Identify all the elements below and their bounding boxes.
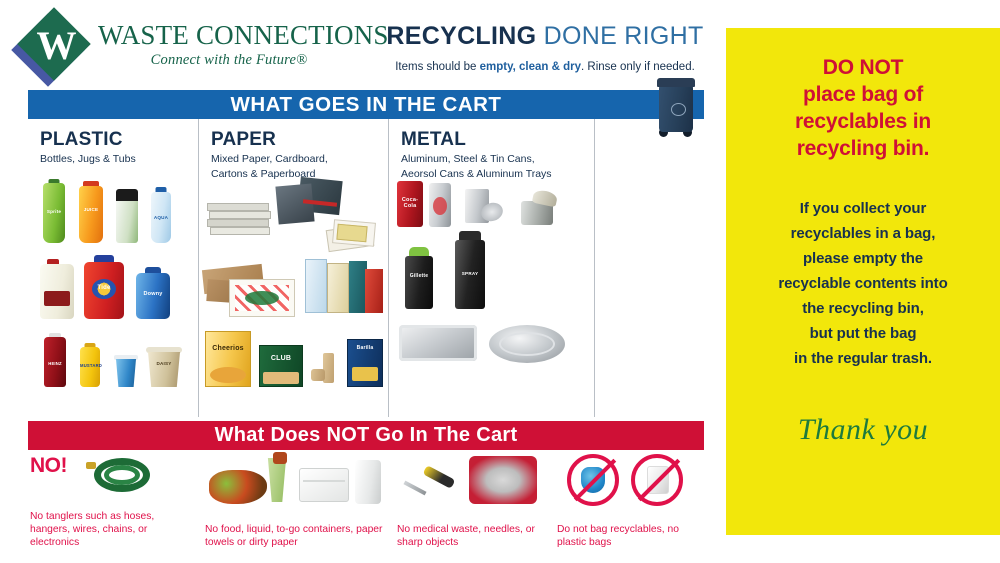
column-metal-items: Coca-Cola: [389, 175, 594, 413]
recycling-cart-icon: [655, 78, 697, 140]
item-cheerios-cereal-box: Cheerios: [205, 331, 251, 387]
column-paper-title: PAPER: [211, 129, 388, 151]
item-aluminum-foil-tray: [399, 325, 477, 365]
column-plastic-title: PLASTIC: [40, 129, 198, 151]
item-club-cracker-box: CLUB: [259, 345, 303, 387]
rejected-materials-row: NO! No tanglers such as hoses, hangers, …: [28, 452, 704, 557]
no-plastic-bag-icon: [631, 454, 683, 506]
item-green-soda-bottle: Sprite: [42, 179, 66, 243]
biohazard-bag-needles-icon: [469, 456, 537, 504]
item-aerosol-spray-can: SPRAY: [455, 231, 485, 309]
item-coca-cola-can: Coca-Cola: [397, 181, 423, 227]
column-paper-subtitle-line1: Mixed Paper, Cardboard,: [211, 153, 388, 166]
item-water-bottle: AQUA: [150, 187, 172, 243]
no-bag-icons: [555, 452, 704, 510]
item-mail-envelopes: [327, 219, 381, 251]
medical-waste-art: [395, 452, 555, 510]
item-milk-jug: [40, 259, 74, 319]
food-scraps-icon: [209, 470, 267, 504]
do-not-bag-notice-panel: DO NOT place bag of recyclables in recyc…: [726, 28, 1000, 535]
notice-body-line-3: please empty the: [740, 246, 986, 271]
item-shaving-gel-can: Gillette: [405, 247, 433, 309]
item-round-foil-pan: [489, 325, 565, 365]
recycling-flyer-page: W WASTE CONNECTIONS Connect with the Fut…: [0, 0, 1000, 563]
item-magazines: [277, 179, 341, 223]
subline-emphasis: empty, clean & dry: [480, 61, 581, 73]
waste-connections-diamond-icon: W: [18, 10, 92, 82]
item-aluminum-can: [429, 183, 451, 227]
item-newspaper-stack: [207, 203, 271, 235]
column-plastic: PLASTIC Bottles, Jugs & Tubs Sprite JUIC…: [28, 119, 198, 417]
paper-towel-roll-icon: [355, 460, 381, 504]
column-metal-subtitle-line1: Aluminum, Steel & Tin Cans,: [401, 153, 594, 166]
drink-cup-icon: [265, 458, 289, 502]
styrofoam-container-icon: [299, 468, 349, 502]
accepted-materials-table: PLASTIC Bottles, Jugs & Tubs Sprite JUIC…: [28, 119, 704, 417]
item-sour-cream-tub: DAISY: [146, 347, 182, 387]
not-item-food-containers: No food, liquid, to-go containers, paper…: [203, 452, 395, 557]
brand-tagline: Connect with the Future®: [98, 52, 360, 69]
notice-body: If you collect your recyclables in a bag…: [740, 196, 986, 371]
item-yogurt-cup: [114, 355, 138, 387]
notice-body-line-7: in the regular trash.: [740, 346, 986, 371]
not-item-medical-waste: No medical waste, needles, or sharp obje…: [395, 452, 555, 557]
flyer-header: W WASTE CONNECTIONS Connect with the Fut…: [0, 0, 726, 90]
notice-body-line-1: If you collect your: [740, 196, 986, 221]
notice-heading: DO NOT place bag of recyclables in recyc…: [740, 54, 986, 162]
not-item-food-containers-caption: No food, liquid, to-go containers, paper…: [205, 523, 389, 549]
column-metal: METAL Aluminum, Steel & Tin Cans, Aeorso…: [388, 119, 594, 417]
notice-body-line-5: the recycling bin,: [740, 296, 986, 321]
column-plastic-items: Sprite JUICE: [28, 175, 198, 413]
item-ketchup-bottle: HEINZ: [44, 333, 66, 387]
page-title: RECYCLING DONE RIGHT: [372, 22, 718, 50]
screwdriver-icon: [401, 466, 459, 496]
brand-name: WASTE CONNECTIONS: [98, 20, 360, 50]
no-blue-trash-bag-icon: [567, 454, 619, 506]
subline-post: . Rinse only if needed.: [581, 61, 695, 73]
what-does-not-go-title: What Does NOT Go In The Cart: [215, 424, 518, 447]
item-tin-can-with-lid: [465, 189, 503, 227]
item-downy-softener-bottle: Downy: [136, 267, 170, 319]
notice-body-line-4: recyclable contents into: [740, 271, 986, 296]
item-orange-juice-bottle: JUICE: [78, 181, 104, 243]
subline-pre: Items should be: [395, 61, 479, 73]
headline-light: DONE RIGHT: [544, 22, 704, 50]
column-plastic-subtitle: Bottles, Jugs & Tubs: [40, 153, 198, 166]
notice-heading-line-2: place bag of: [740, 81, 986, 108]
column-paper-items: Cheerios CLUB: [199, 175, 388, 413]
what-does-not-go-banner: What Does NOT Go In The Cart: [28, 421, 704, 450]
what-goes-in-cart-banner: WHAT GOES IN THE CART: [28, 90, 704, 119]
notice-heading-line-1: DO NOT: [740, 54, 986, 81]
column-metal-title: METAL: [401, 129, 594, 151]
what-goes-in-cart-title: WHAT GOES IN THE CART: [231, 93, 502, 117]
not-item-plastic-bags: Do not bag recyclables, no plastic bags: [555, 452, 704, 557]
column-paper: PAPER Mixed Paper, Cardboard, Cartons & …: [198, 119, 388, 417]
item-tide-detergent-bottle: Tide: [84, 255, 124, 319]
item-mustard-bottle: MUSTARD: [80, 343, 100, 387]
item-pet-food-can: [519, 191, 559, 227]
brand-logo: W WASTE CONNECTIONS Connect with the Fut…: [18, 8, 358, 84]
item-beverage-cartons: [305, 259, 383, 319]
item-pizza-box: [229, 279, 295, 319]
food-and-container-art: [203, 452, 395, 510]
headline-bold: RECYCLING: [386, 22, 536, 50]
notice-body-line-6: but put the bag: [740, 321, 986, 346]
headline-block: RECYCLING DONE RIGHT Items should be emp…: [372, 22, 718, 74]
notice-thank-you: Thank you: [740, 413, 986, 447]
not-item-tanglers: NO! No tanglers such as hoses, hangers, …: [28, 452, 203, 557]
notice-body-line-2: recyclables in a bag,: [740, 221, 986, 246]
flyer-main-panel: W WASTE CONNECTIONS Connect with the Fut…: [0, 0, 726, 563]
headline-subline: Items should be empty, clean & dry. Rins…: [372, 60, 718, 74]
item-shampoo-bottle: [116, 189, 138, 243]
item-pasta-box: Barilla: [347, 339, 383, 387]
not-item-tanglers-caption: No tanglers such as hoses, hangers, wire…: [30, 510, 197, 549]
item-paper-tubes: [311, 353, 341, 387]
column-spacer: [594, 119, 703, 417]
not-item-plastic-bags-caption: Do not bag recyclables, no plastic bags: [557, 523, 698, 549]
notice-heading-line-4: recycling bin.: [740, 135, 986, 162]
garden-hose-coil-icon: [28, 452, 203, 510]
notice-heading-line-3: recyclables in: [740, 108, 986, 135]
not-item-medical-waste-caption: No medical waste, needles, or sharp obje…: [397, 523, 549, 549]
